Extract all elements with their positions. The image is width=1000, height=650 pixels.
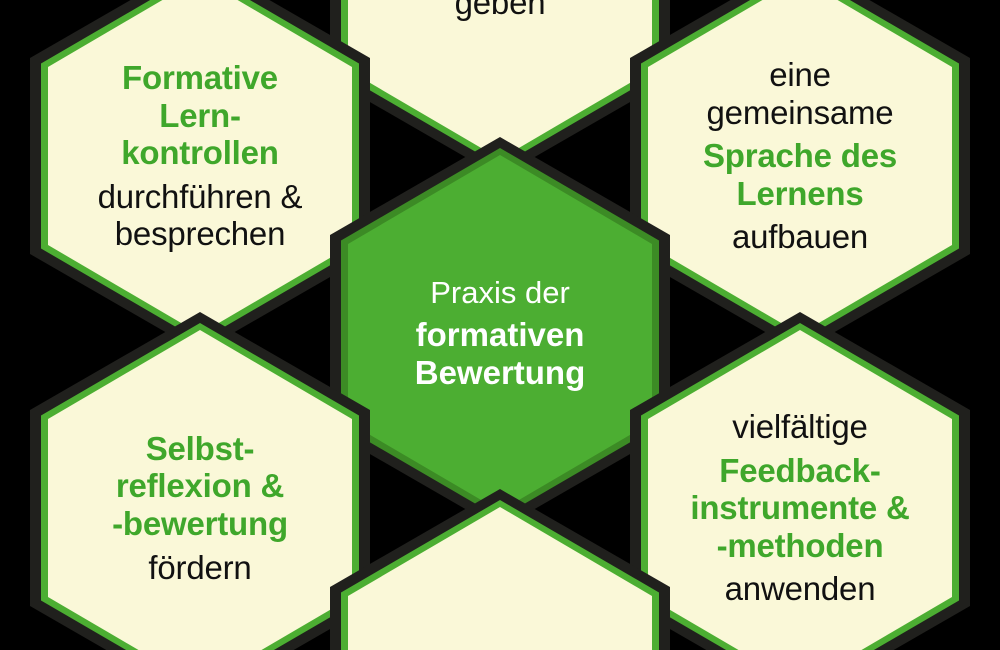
hex-line: Sprache des: [703, 137, 897, 175]
hex-cell-selbstreflexion[interactable]: Selbst- reflexion & -bewertung fördern: [30, 312, 370, 650]
hex-label-group: Lerndialog & Peerfeedback: [348, 507, 652, 650]
hex-cell-lerndialog-peerfeedback[interactable]: Lerndialog & Peerfeedback: [330, 489, 670, 650]
hex-line: eine: [769, 56, 831, 94]
hex-line: -bewertung: [112, 505, 288, 543]
hex-label-group: Feedback geben: [348, 0, 652, 159]
center-line-3: Bewertung: [415, 354, 586, 392]
center-line-1: Praxis der: [430, 275, 570, 310]
hex-line: instrumente &: [690, 489, 909, 527]
hex-line: Lernens: [737, 175, 864, 213]
hex-line: kontrollen: [121, 134, 279, 172]
hex-line: geben: [455, 0, 546, 22]
hex-line: -methoden: [717, 527, 884, 565]
hex-line: aufbauen: [732, 218, 868, 256]
hex-cell-feedbackinstrumente[interactable]: vielfältige Feedback- instrumente & -met…: [630, 312, 970, 650]
hex-cell-center-praxis[interactable]: Praxis der formativen Bewertung: [330, 137, 670, 529]
hex-line: durchführen &: [98, 178, 303, 216]
hex-line: Feedback-: [719, 452, 880, 490]
hex-cell-sprache-des-lernens[interactable]: eine gemeinsame Sprache des Lernens aufb…: [630, 0, 970, 352]
hex-line: besprechen: [115, 215, 285, 253]
center-line-2: formativen: [416, 316, 585, 354]
hex-line: gemeinsame: [707, 94, 894, 132]
hexagon-diagram: Feedback geben Formative Lern- kontrolle…: [0, 0, 1000, 650]
hex-line: reflexion &: [116, 467, 284, 505]
hex-line: Formative: [122, 59, 278, 97]
hex-cell-formative-lernkontrollen[interactable]: Formative Lern- kontrollen durchführen &…: [30, 0, 370, 352]
hex-line: vielfältige: [732, 408, 867, 446]
hex-line: Selbst-: [146, 430, 255, 468]
hex-line: anwenden: [725, 570, 876, 608]
hex-line: Lern-: [159, 97, 241, 135]
hex-line: fördern: [148, 549, 251, 587]
